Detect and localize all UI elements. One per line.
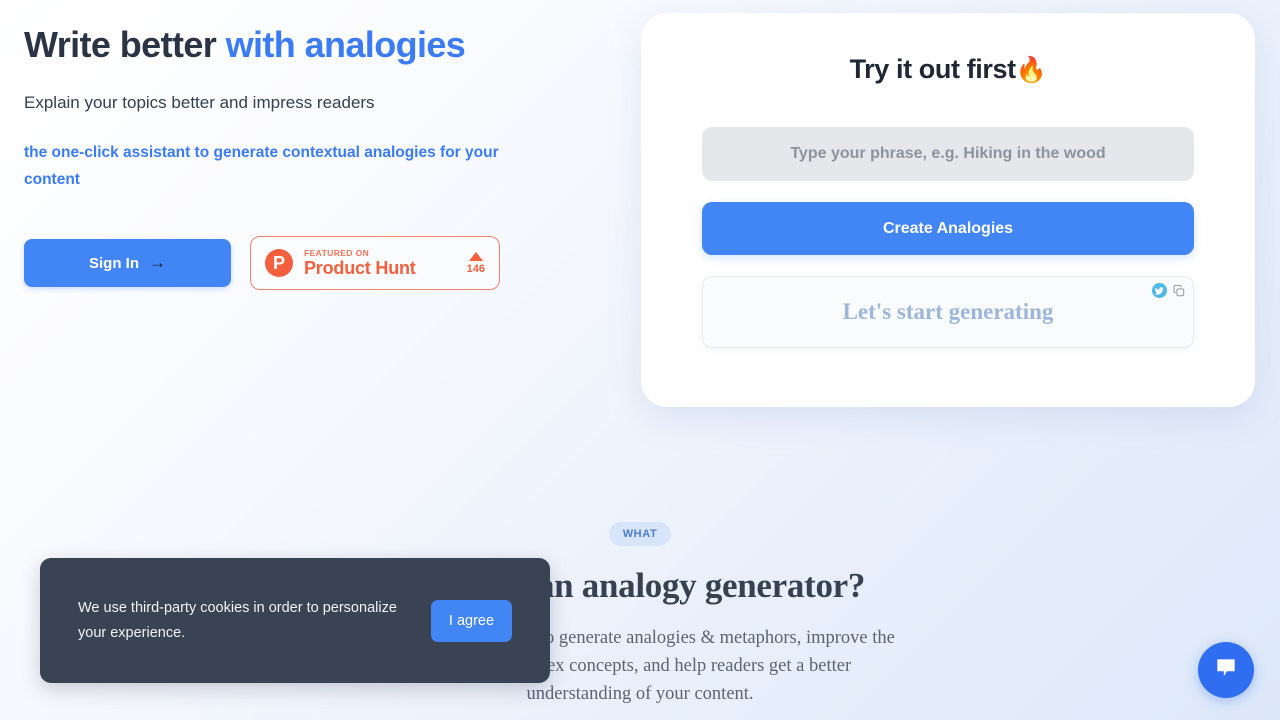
hero-tagline: the one-click assistant to generate cont… xyxy=(24,139,549,193)
product-hunt-logo-icon: P xyxy=(265,249,293,277)
cookie-consent-banner: We use third-party cookies in order to p… xyxy=(40,558,550,683)
result-actions xyxy=(1152,283,1186,298)
chat-bubble-icon xyxy=(1213,655,1239,686)
product-hunt-featured-label: FEATURED ON xyxy=(304,249,456,258)
sign-in-button[interactable]: Sign In → xyxy=(24,239,231,287)
copy-icon[interactable] xyxy=(1172,284,1186,298)
chat-widget-button[interactable] xyxy=(1198,642,1254,698)
create-analogies-button[interactable]: Create Analogies xyxy=(702,202,1194,255)
fire-icon: 🔥 xyxy=(1016,56,1047,84)
product-hunt-badge[interactable]: P FEATURED ON Product Hunt 146 xyxy=(250,236,500,290)
product-hunt-name: Product Hunt xyxy=(304,259,456,278)
twitter-share-icon[interactable] xyxy=(1152,283,1167,298)
product-hunt-vote-count: 146 xyxy=(467,264,485,275)
hero-actions: Sign In → P FEATURED ON Product Hunt 146 xyxy=(24,236,624,290)
section-badge-what: WHAT xyxy=(609,522,672,546)
cookie-agree-button[interactable]: I agree xyxy=(431,600,512,642)
arrow-right-icon: → xyxy=(149,254,166,271)
cookie-banner-message: We use third-party cookies in order to p… xyxy=(78,596,409,646)
try-card-title: Try it out first🔥 xyxy=(702,53,1194,85)
page-title: Write better with analogies xyxy=(24,22,624,67)
result-box: Let's start generating xyxy=(702,276,1194,348)
hero-left-column: Write better with analogies Explain your… xyxy=(24,22,624,290)
try-it-out-card: Try it out first🔥 Create Analogies Let's… xyxy=(641,13,1255,407)
triangle-up-icon xyxy=(469,252,483,261)
hero-title-accent: with analogies xyxy=(226,24,466,65)
product-hunt-text: FEATURED ON Product Hunt xyxy=(304,249,456,278)
hero-subtitle: Explain your topics better and impress r… xyxy=(24,91,624,115)
result-placeholder-text: Let's start generating xyxy=(843,299,1054,325)
hero-title-plain: Write better xyxy=(24,24,226,65)
try-card-title-text: Try it out first xyxy=(850,54,1016,84)
sign-in-label: Sign In xyxy=(89,255,139,272)
product-hunt-upvote[interactable]: 146 xyxy=(467,252,485,275)
phrase-input[interactable] xyxy=(702,127,1194,181)
